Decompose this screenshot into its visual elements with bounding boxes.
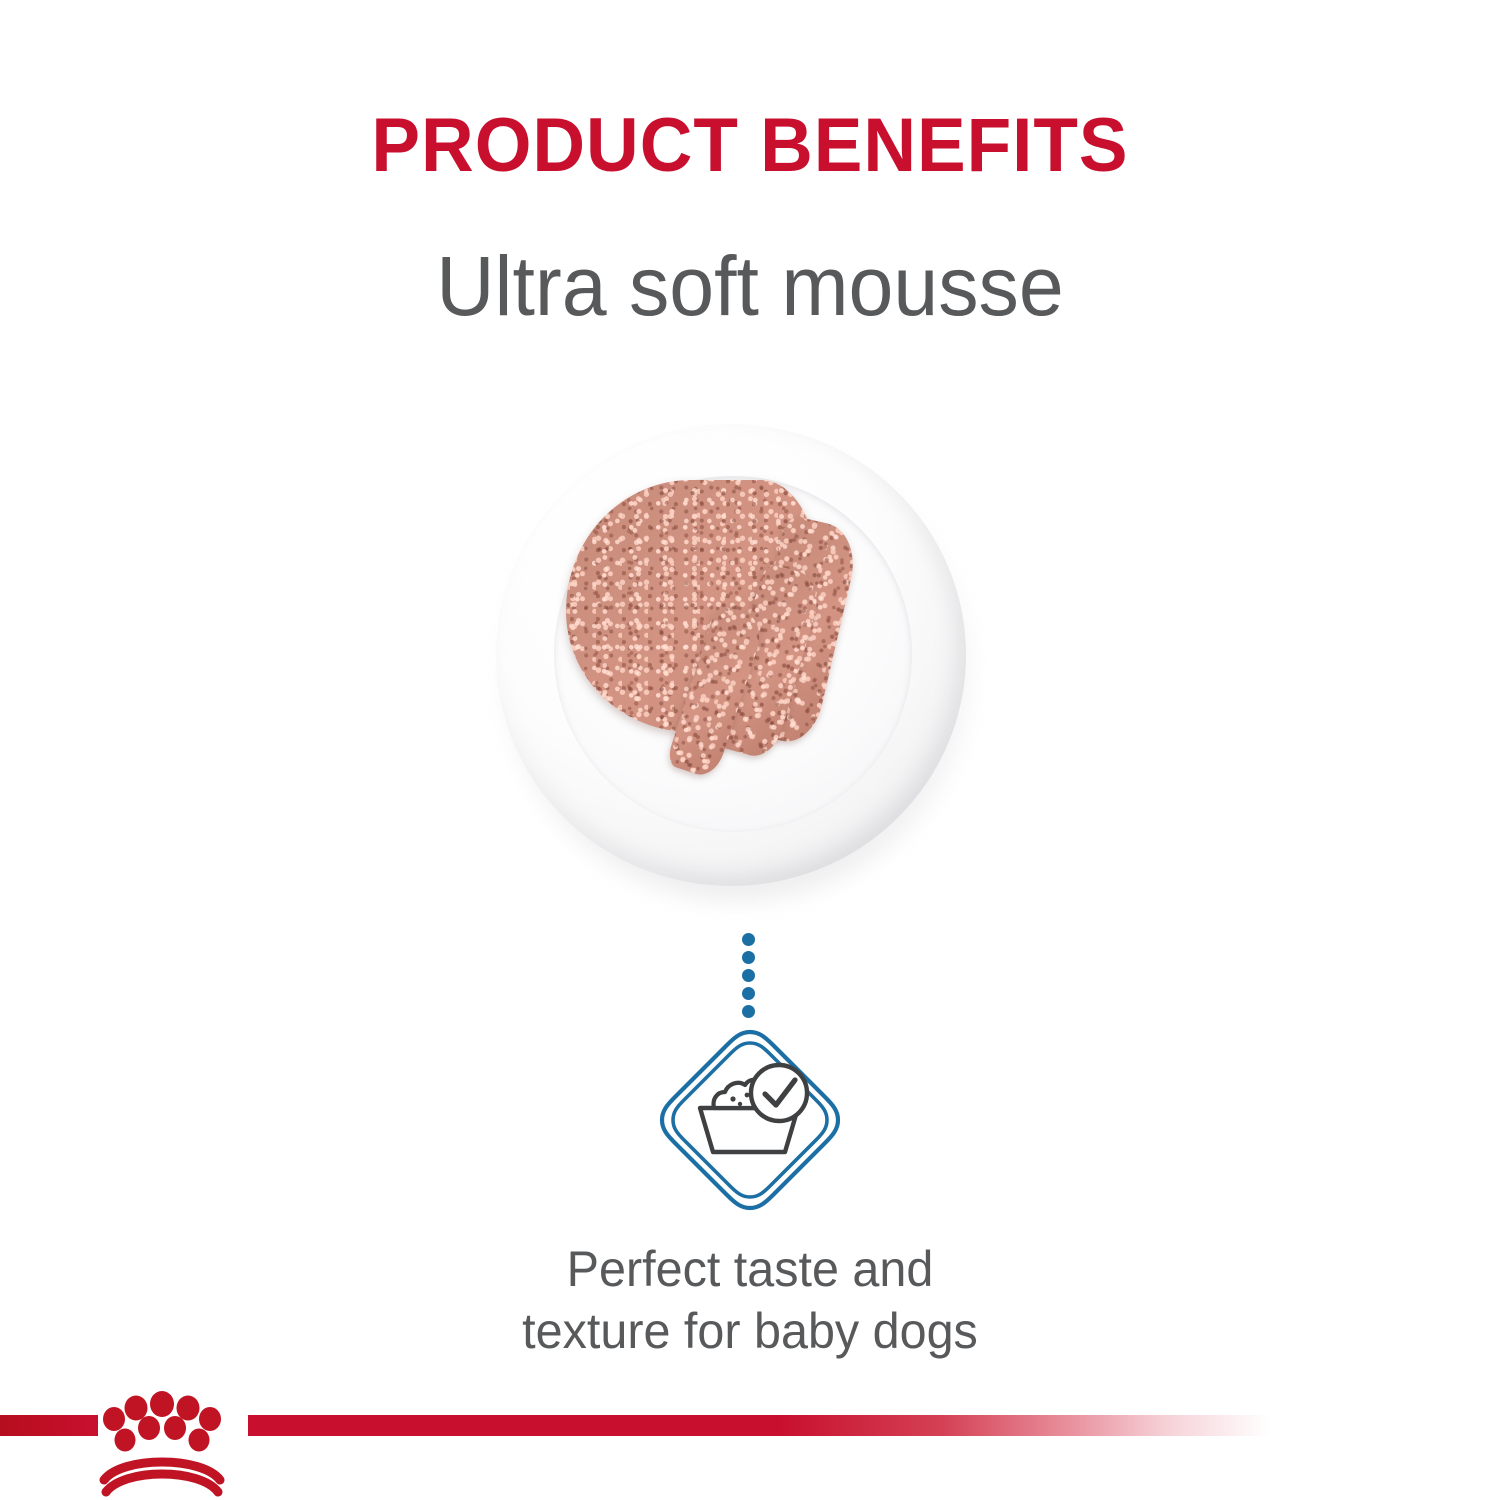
connector-dot [742,951,755,964]
food-bowl-check-icon [655,1025,845,1215]
kibble-dot [738,1102,742,1106]
product-image [480,412,1000,912]
page-subtitle: Ultra soft mousse [30,238,1470,335]
page-title: PRODUCT BENEFITS [30,102,1470,189]
footer-bar-left [0,1415,98,1436]
kibble-dot [730,1096,735,1101]
kibble-dot [745,1093,750,1098]
royal-canin-crown-icon [92,1390,232,1500]
connector-dot [742,933,755,946]
connector-dot [742,987,755,1000]
product-benefits-page: PRODUCT BENEFITS Ultra soft mousse [0,0,1500,1500]
benefit-badge [655,1025,845,1215]
benefit-caption: Perfect taste and texture for baby dogs [23,1238,1478,1362]
connector-dot [742,969,755,982]
check-circle [751,1065,807,1121]
connector-dot [742,1005,755,1018]
brand-logo [92,1390,232,1500]
footer [0,1390,1500,1500]
benefit-caption-line-1: Perfect taste and [23,1238,1478,1300]
footer-bar-right [248,1415,1270,1436]
dotted-connector [742,933,755,1023]
benefit-caption-line-2: texture for baby dogs [23,1300,1478,1362]
